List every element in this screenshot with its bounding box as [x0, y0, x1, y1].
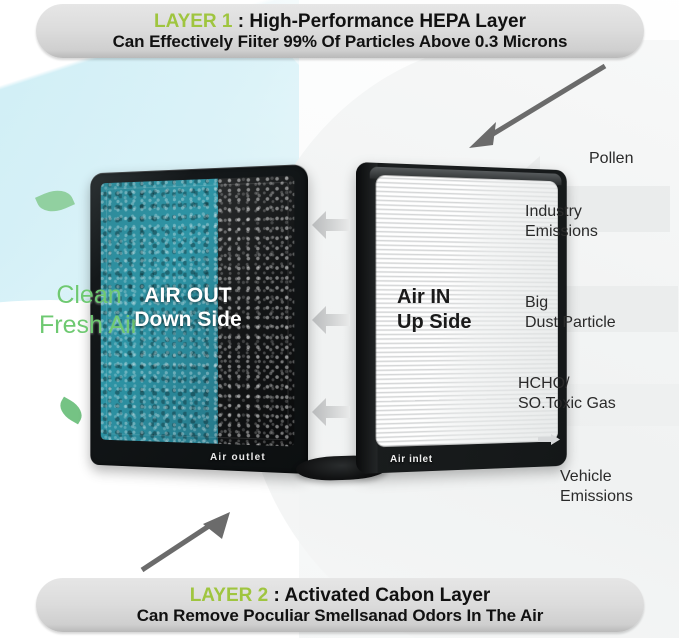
- air-out-line-2: Down Side: [118, 308, 258, 332]
- pollutant-label-industry-emissions: Industry Emissions: [525, 202, 598, 243]
- pointer-arrow-bottom-icon: [134, 506, 244, 581]
- air-in-label: Air IN Up Side: [397, 285, 507, 335]
- infographic-canvas: Clean Fresh Air AIR OUT Down Side Air ou…: [0, 0, 679, 638]
- air-in-line-1: Air IN: [397, 285, 507, 310]
- air-inlet-port-label: Air inlet: [390, 454, 433, 465]
- layer-2-title: Activated Cabon Layer: [284, 585, 490, 606]
- air-out-line-1: AIR OUT: [118, 284, 258, 308]
- airflow-arrow-icon: [310, 208, 350, 242]
- layer-2-banner: LAYER 2 : Activated Cabon Layer Can Remo…: [36, 578, 644, 632]
- air-outlet-port-label: Air outlet: [210, 452, 266, 463]
- pollutant-label-big-dust-particle: Big Dust Particle: [525, 293, 616, 334]
- pollutant-label-vehicle-emissions: Vehicle Emissions: [560, 467, 633, 508]
- pollutant-label-hcho-toxic-gas: HCHO/ SO.Toxic Gas: [518, 374, 616, 415]
- layer-1-subtitle: Can Effectively Fiiter 99% Of Particles …: [113, 32, 568, 51]
- layer-1-separator: :: [232, 11, 249, 32]
- pollutant-label-pollen: Pollen: [589, 149, 633, 169]
- hepa-frame-left-edge: [356, 162, 378, 474]
- air-in-line-2: Up Side: [397, 310, 507, 335]
- layer-1-headline: LAYER 1 : High-Performance HEPA Layer: [154, 11, 526, 32]
- layer-2-subtitle: Can Remove Poculiar Smellsanad Odors In …: [137, 606, 544, 625]
- layer-2-separator: :: [268, 585, 284, 606]
- airflow-arrow-icon: [310, 395, 350, 429]
- layer-1-tag: LAYER 1: [154, 11, 233, 32]
- layer-2-tag: LAYER 2: [190, 585, 269, 606]
- layer-1-title: High-Performance HEPA Layer: [249, 11, 526, 32]
- inlet-arrow-icon: [538, 432, 560, 443]
- air-out-label: AIR OUT Down Side: [118, 284, 258, 332]
- pointer-arrow-top-icon: [455, 58, 615, 158]
- layer-2-headline: LAYER 2 : Activated Cabon Layer: [190, 585, 491, 606]
- airflow-arrow-icon: [310, 303, 350, 337]
- layer-1-banner: LAYER 1 : High-Performance HEPA Layer Ca…: [36, 4, 644, 58]
